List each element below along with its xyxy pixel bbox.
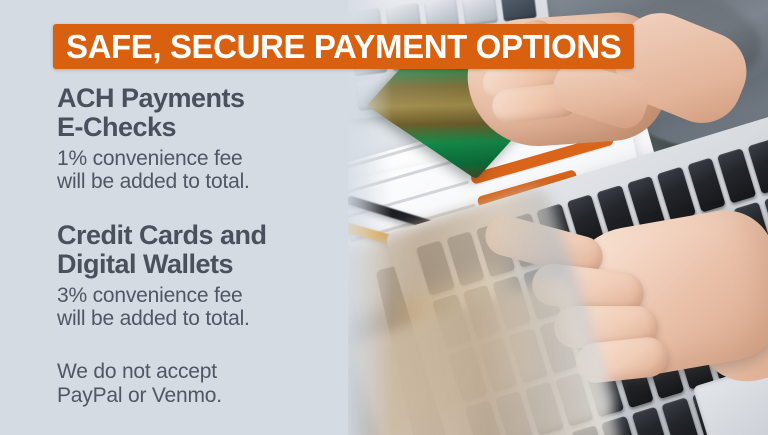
headline-banner: SAFE, SECURE PAYMENT OPTIONS (53, 24, 634, 69)
disclaimer-line1: We do not accept (57, 360, 347, 384)
payment-option-ach: ACH Payments E-Checks 1% convenience fee… (57, 84, 347, 193)
headline-text: SAFE, SECURE PAYMENT OPTIONS (66, 30, 621, 63)
payment-options-banner: SAFE, SECURE PAYMENT OPTIONS ACH Payment… (0, 0, 768, 435)
ach-title-line1: ACH Payments (57, 84, 347, 113)
section-spacer (57, 330, 347, 360)
cards-title-line1: Credit Cards and (57, 221, 347, 250)
disclaimer: We do not accept PayPal or Venmo. (57, 360, 347, 407)
cards-title-line2: Digital Wallets (57, 250, 347, 279)
cards-fee-line1: 3% convenience fee (57, 284, 347, 307)
payment-option-cards: Credit Cards and Digital Wallets 3% conv… (57, 221, 347, 330)
ach-title-line2: E-Checks (57, 113, 347, 142)
ach-fee-line1: 1% convenience fee (57, 147, 347, 170)
cards-fee-line2: will be added to total. (57, 307, 347, 330)
ach-fee-line2: will be added to total. (57, 170, 347, 193)
disclaimer-line2: PayPal or Venmo. (57, 384, 347, 408)
payment-options-content: ACH Payments E-Checks 1% convenience fee… (57, 84, 347, 407)
section-spacer (57, 193, 347, 221)
